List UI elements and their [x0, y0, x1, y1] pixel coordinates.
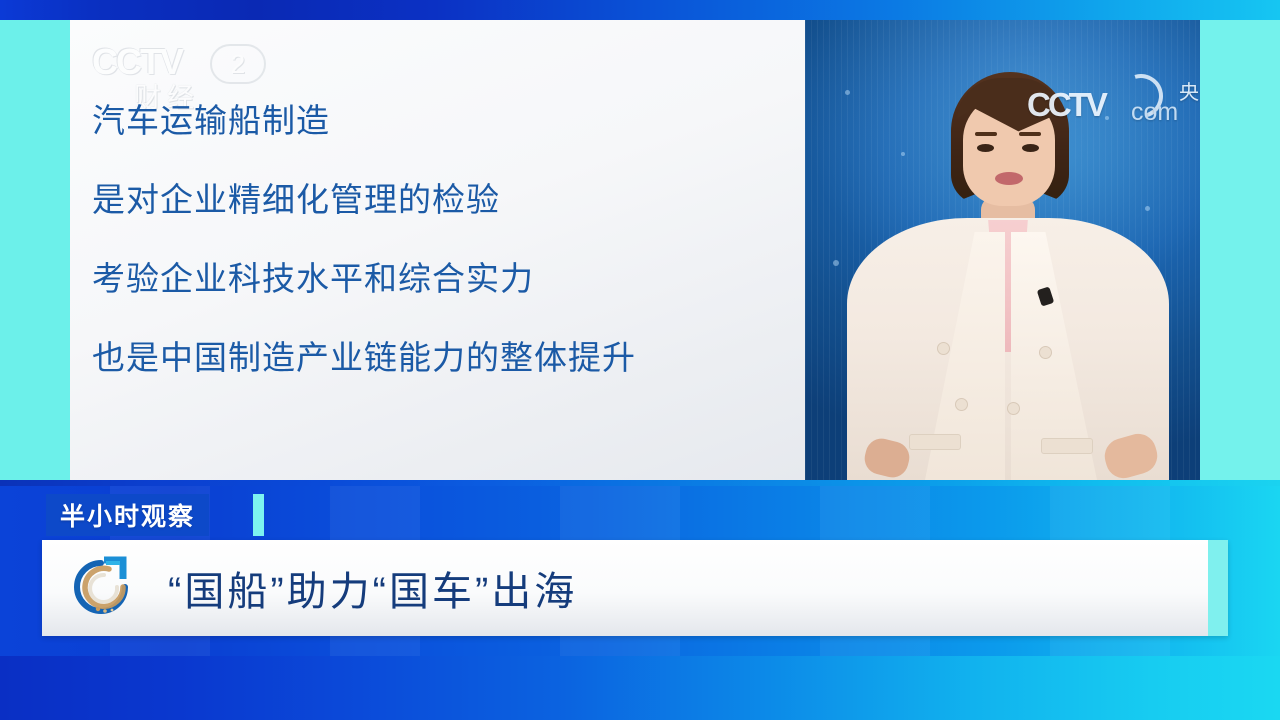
program-arc-logo — [68, 554, 136, 622]
channel-number: 2 — [210, 44, 266, 84]
program-kicker-label: 半小时观察 — [60, 497, 195, 533]
news-anchor-figure — [805, 20, 1200, 480]
right-cyan-rail — [1200, 20, 1280, 480]
broadcast-frame: CCTV 2 财经 汽车运输船制造 是对企业精细化管理的检验 考验企业科技水平和… — [0, 0, 1280, 720]
top-accent-strip — [0, 0, 1280, 20]
slate-line-2: 是对企业精细化管理的检验 — [92, 183, 795, 216]
anchor-eye-left — [977, 144, 994, 152]
anchor-eyebrow-left — [975, 132, 997, 136]
headline-text: “国船”助力“国车”出海 — [168, 559, 577, 617]
kicker-accent-bar — [253, 494, 264, 536]
blazer-button — [1007, 402, 1020, 415]
blazer-pocket-right — [1041, 438, 1093, 454]
blazer-pocket-left — [909, 434, 961, 450]
slate-panel: CCTV 2 财经 汽车运输船制造 是对企业精细化管理的检验 考验企业科技水平和… — [70, 20, 805, 480]
program-kicker: 半小时观察 — [46, 494, 209, 536]
slate-line-3: 考验企业科技水平和综合实力 — [92, 262, 795, 295]
blazer-button — [1039, 346, 1052, 359]
slate-text-block: 汽车运输船制造 是对企业精细化管理的检验 考验企业科技水平和综合实力 也是中国制… — [92, 104, 795, 374]
studio-video-feed: CCTV com 央视网 — [805, 20, 1200, 480]
blazer-button — [955, 398, 968, 411]
anchor-mouth — [995, 172, 1023, 185]
bottom-accent-strip — [0, 656, 1280, 720]
headline-bar-right-edge — [1208, 540, 1228, 636]
left-cyan-rail — [0, 20, 70, 480]
blazer-button — [937, 342, 950, 355]
slate-line-1: 汽车运输船制造 — [92, 104, 795, 137]
slate-line-4: 也是中国制造产业链能力的整体提升 — [92, 341, 795, 374]
cctv-wordmark: CCTV — [92, 42, 272, 82]
headline-bar: “国船”助力“国车”出海 — [42, 540, 1228, 636]
anchor-eyebrow-right — [1019, 132, 1041, 136]
anchor-eye-right — [1022, 144, 1039, 152]
